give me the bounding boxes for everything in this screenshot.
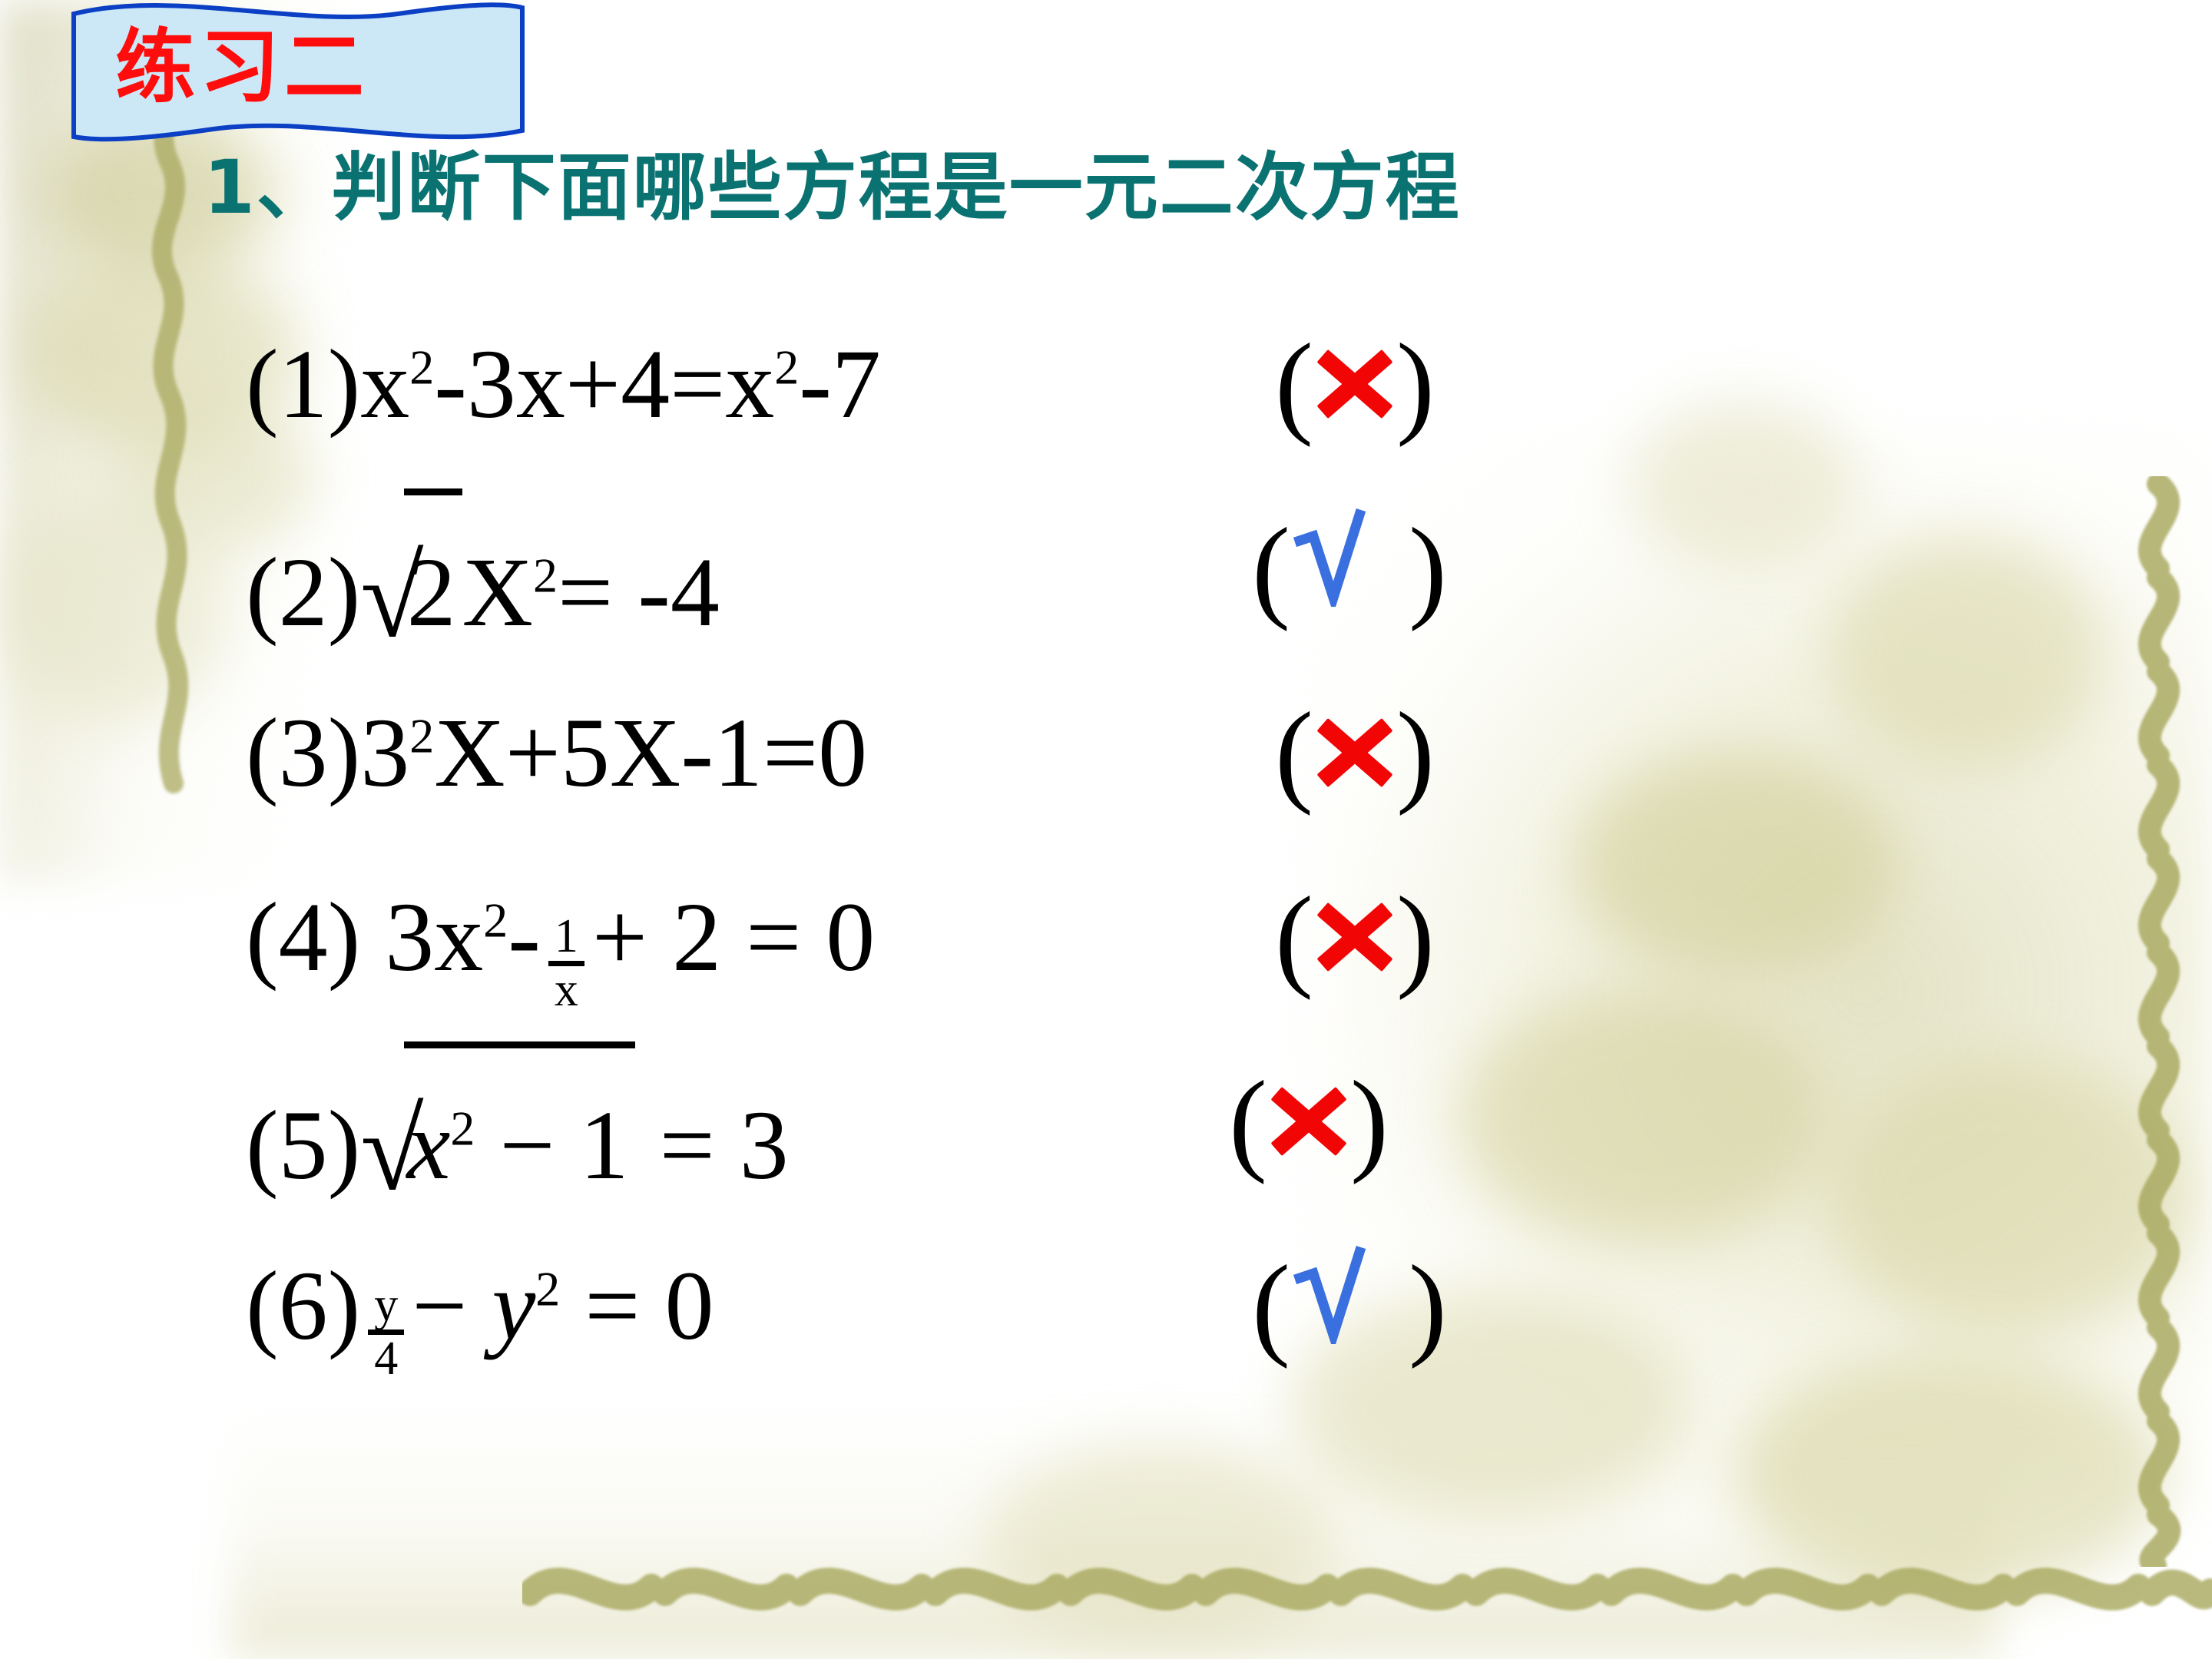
equation-row: (4) 3x2-1x+ 2 = 0 () [0,845,2212,1029]
eq3-exponent: 2 [409,708,434,763]
equation-number: (6) [246,1251,360,1360]
fraction-numerator: 1 [548,912,584,961]
eq6-op: − [412,1251,467,1360]
eq5-radicand-tail: − 1 [499,1091,628,1200]
paren-close: ) [1350,1058,1389,1185]
eq1-tail: -7 [799,329,881,439]
fraction-numerator: y [368,1281,404,1330]
eq6-tail: = 0 [584,1251,714,1360]
wave-ornament-bottom [522,1545,2212,1637]
eq3-base: 3 [360,698,409,807]
equation-number: (3) [246,698,360,807]
cross-icon [1313,343,1396,426]
banner-title: 练习二 [115,17,492,117]
equation-expression: (5)√x2 − 1 = 3 [246,1029,789,1237]
page-heading: 1、判断下面哪些方程是一元二次方程 [204,142,1461,233]
equation-row: (5)√x2 − 1 = 3 () [0,1029,2212,1214]
equation-expression: (6)y4− y2 = 0 [246,1214,714,1398]
equation-number: (4) [246,882,360,992]
eq1-exponent2: 2 [774,339,799,394]
answer-mark: () [1229,1029,1389,1214]
paren-open: ( [1252,505,1290,632]
equation-expression: (3)32X+5X-1=0 [246,661,867,845]
answer-mark: () [1275,661,1435,845]
eq4-op: - [508,882,541,992]
answer-mark: ( ) [1252,1214,1447,1398]
answer-mark: ( ) [1252,476,1447,661]
radicand: 2 [404,488,462,684]
eq4-exponent: 2 [483,892,508,947]
equation-row: (2)√2X2= -4 ( ) [0,476,2212,661]
paren-open: ( [1275,320,1313,448]
equation-row: (1)x2-3x+4=x2-7 () [0,292,2212,476]
paren-close: ) [1396,320,1435,448]
fraction-denominator: 4 [368,1330,404,1383]
equation-number: (2) [246,538,360,647]
eq4-tail: + 2 = 0 [592,882,875,992]
eq3-tail: X+5X-1=0 [434,698,867,807]
eq5-tail: = 3 [660,1091,789,1200]
eq5-base: x [407,1091,451,1200]
fraction: 1x [548,912,584,1015]
answer-mark: () [1275,845,1435,1029]
check-icon [1290,519,1373,618]
eq2-tail: = -4 [558,538,720,647]
eq4-lead: 3x [385,882,483,992]
eq6-exponent: 2 [535,1261,560,1316]
cross-icon [1313,711,1396,794]
paren-open: ( [1275,873,1313,1001]
equation-row: (6)y4− y2 = 0 ( ) [0,1214,2212,1398]
paren-close: ) [1409,505,1447,632]
equation-row: (3)32X+5X-1=0 () [0,661,2212,845]
equation-list: (1)x2-3x+4=x2-7 () (2)√2X2= -4 ( ) (3)32… [0,292,2212,1398]
eq2-exponent: 2 [533,548,558,602]
equation-expression: (1)x2-3x+4=x2-7 [246,292,881,476]
cross-icon [1267,1080,1350,1163]
equation-expression: (2)√2X2= -4 [246,476,720,684]
cross-icon [1313,896,1396,979]
equation-number: (5) [246,1091,360,1200]
paren-close: ) [1396,689,1435,816]
paren-close: ) [1409,1242,1447,1369]
check-icon [1290,1257,1373,1355]
radical-group: √2 [360,476,462,684]
equation-number: (1) [246,329,360,439]
radicand: x2 − 1 [404,1041,635,1237]
paren-open: ( [1252,1242,1290,1369]
eq2-var: X [462,538,533,647]
answer-mark: () [1275,292,1435,476]
fraction-denominator: x [548,961,584,1015]
eq1-exponent: 2 [409,339,434,394]
paren-close: ) [1396,873,1435,1001]
eq5-exponent: 2 [450,1101,475,1155]
radical-group: √x2 − 1 [360,1029,634,1237]
paren-open: ( [1229,1058,1267,1185]
equation-expression: (4) 3x2-1x+ 2 = 0 [246,845,875,1029]
paren-open: ( [1275,689,1313,816]
fraction: y4 [368,1281,404,1383]
eq6-base: y [492,1251,535,1360]
eq1-base: x [360,329,409,439]
eq1-mid: -3x+4=x [434,329,774,439]
